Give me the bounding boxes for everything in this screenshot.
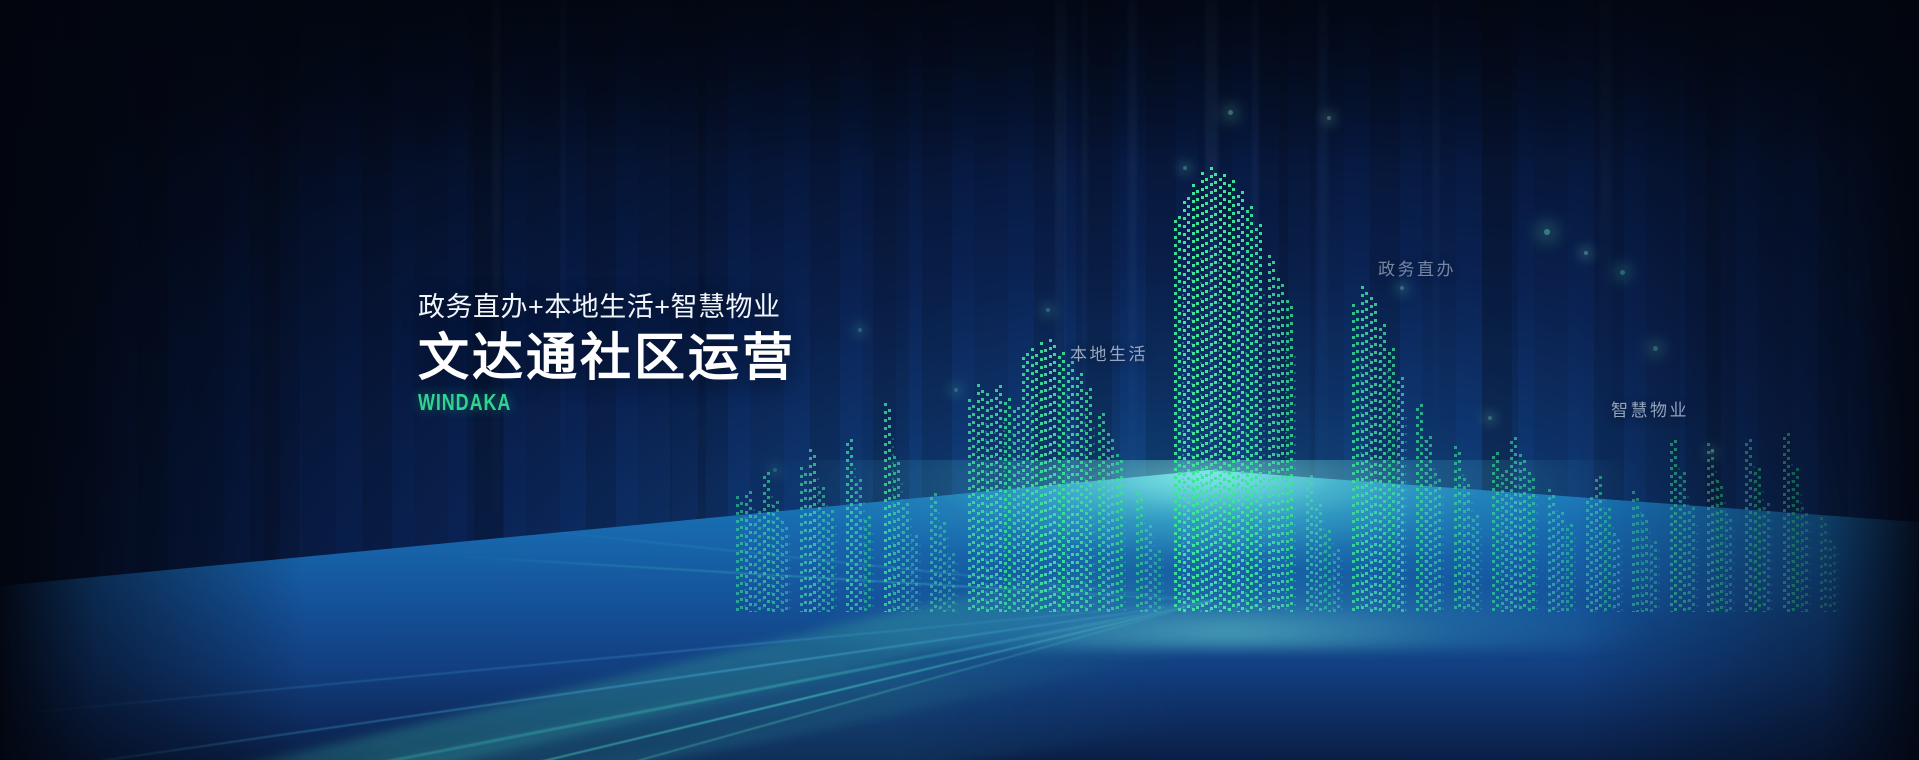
scene-label-local-life: 本地生活 xyxy=(1070,340,1148,365)
light-shaft xyxy=(1055,0,1066,560)
sparkle-dot xyxy=(1544,229,1550,235)
brand-wordmark: WINDAKA xyxy=(418,391,713,414)
light-shaft xyxy=(1082,0,1088,520)
sparkle-dot xyxy=(1228,110,1233,115)
sparkle-dot xyxy=(954,388,958,392)
sparkle-dot xyxy=(1710,450,1714,454)
light-shaft xyxy=(1318,0,1328,560)
sparkle-dot xyxy=(1183,166,1187,170)
perspective-ground-plane xyxy=(0,470,1919,760)
sparkle-dot xyxy=(858,328,862,332)
sparkle-dot xyxy=(1653,346,1658,351)
headline-copy-block: 政务直办+本地生活+智慧物业 文达通社区运营 WINDAKA xyxy=(418,292,796,414)
hero-banner: 政务直办 本地生活 智慧物业 政务直办+本地生活+智慧物业 文达通社区运营 WI… xyxy=(0,0,1919,760)
sparkle-dot xyxy=(1400,286,1404,290)
sparkle-dot xyxy=(773,468,777,472)
sparkle-dot xyxy=(1488,416,1492,420)
sparkle-dot xyxy=(1620,270,1625,275)
scene-label-smart-property: 智慧物业 xyxy=(1611,396,1689,421)
banner-title: 文达通社区运营 xyxy=(418,331,796,385)
sparkle-dot xyxy=(1584,251,1588,255)
scene-label-government-services: 政务直办 xyxy=(1378,255,1456,280)
banner-subtitle: 政务直办+本地生活+智慧物业 xyxy=(418,292,796,323)
sparkle-dot xyxy=(1327,116,1331,120)
sparkle-dot xyxy=(1046,308,1050,312)
